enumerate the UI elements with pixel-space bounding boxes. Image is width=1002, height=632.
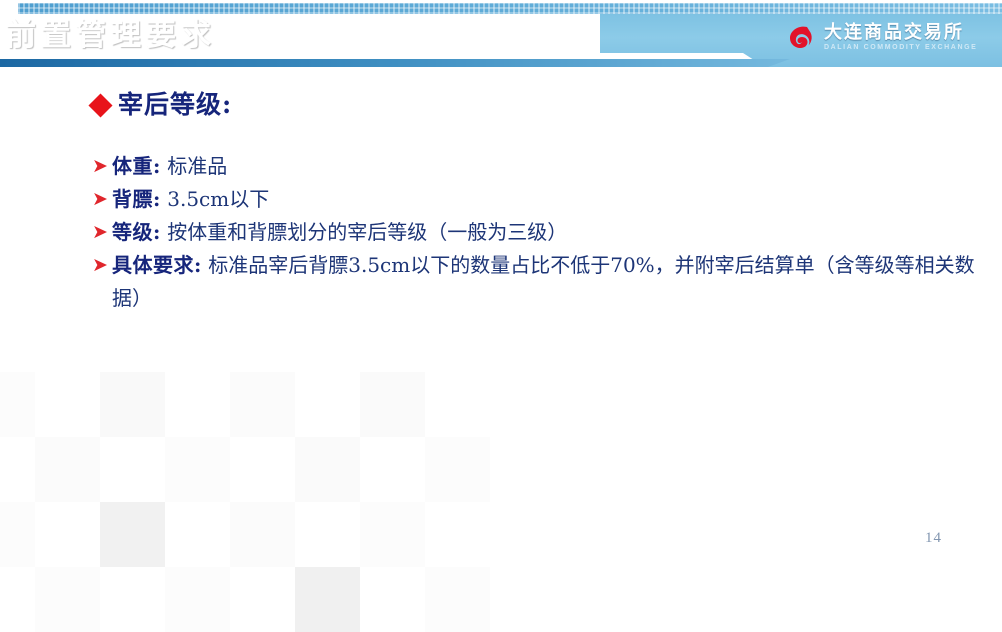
decorative-square [100,372,165,437]
decorative-square [295,437,360,502]
section-heading-text: 宰后等级: [118,88,232,122]
decorative-square [230,372,295,437]
list-item-label: 背膘: [112,187,161,211]
decorative-square [0,372,35,437]
red-arrow-icon: ➤ [92,216,108,249]
page-number: 14 [925,530,942,547]
decorative-square [165,437,230,502]
decorative-square [35,437,100,502]
decorative-square [360,372,425,437]
logo-name-cn: 大连商品交易所 [824,24,977,42]
list-item: ➤体重: 标准品 [92,150,982,183]
red-diamond-icon [88,93,112,117]
list-item-label: 等级: [112,220,161,244]
header-lower-accent-strip [0,59,790,67]
slide-content: 宰后等级: ➤体重: 标准品 ➤背膘: 3.5cm以下 ➤等级: 按体重和背膘划… [92,88,982,315]
decorative-square [35,567,100,632]
decorative-square [230,502,295,567]
list-item-label: 体重: [112,154,161,178]
red-arrow-icon: ➤ [92,150,108,183]
header-top-texture-strip [18,3,1002,14]
exchange-logo: 大连商品交易所 DALIAN COMMODITY EXCHANGE [786,22,994,52]
decorative-square [360,502,425,567]
section-heading: 宰后等级: [92,88,982,122]
list-item: ➤具体要求: 标准品宰后背膘3.5cm以下的数量占比不低于70%，并附宰后结算单… [92,249,1000,315]
slide-header: 前置管理要求 大连商品交易所 DALIAN COMMODITY EXCHANGE [0,0,1002,72]
decorative-square [295,567,360,632]
list-item-text: 3.5cm以下 [167,187,269,211]
red-arrow-icon: ➤ [92,183,108,216]
decorative-square [165,567,230,632]
logo-text-block: 大连商品交易所 DALIAN COMMODITY EXCHANGE [824,24,977,51]
list-item-text: 标准品 [167,154,227,178]
page-title: 前置管理要求 [6,17,216,55]
decorative-square [425,567,490,632]
logo-name-en: DALIAN COMMODITY EXCHANGE [824,44,977,51]
red-arrow-icon: ➤ [92,249,108,282]
decorative-squares [0,372,500,567]
decorative-square [0,502,35,567]
list-item: ➤背膘: 3.5cm以下 [92,183,982,216]
list-item-text: 按体重和背膘划分的宰后等级（一般为三级） [167,220,567,244]
list-item: ➤等级: 按体重和背膘划分的宰后等级（一般为三级） [92,216,982,249]
decorative-square [100,502,165,567]
decorative-square [425,437,490,502]
red-swirl-icon [786,22,816,52]
list-item-label: 具体要求: [112,253,202,277]
list-item-text: 标准品宰后背膘3.5cm以下的数量占比不低于70%，并附宰后结算单（含等级等相关… [112,253,975,310]
